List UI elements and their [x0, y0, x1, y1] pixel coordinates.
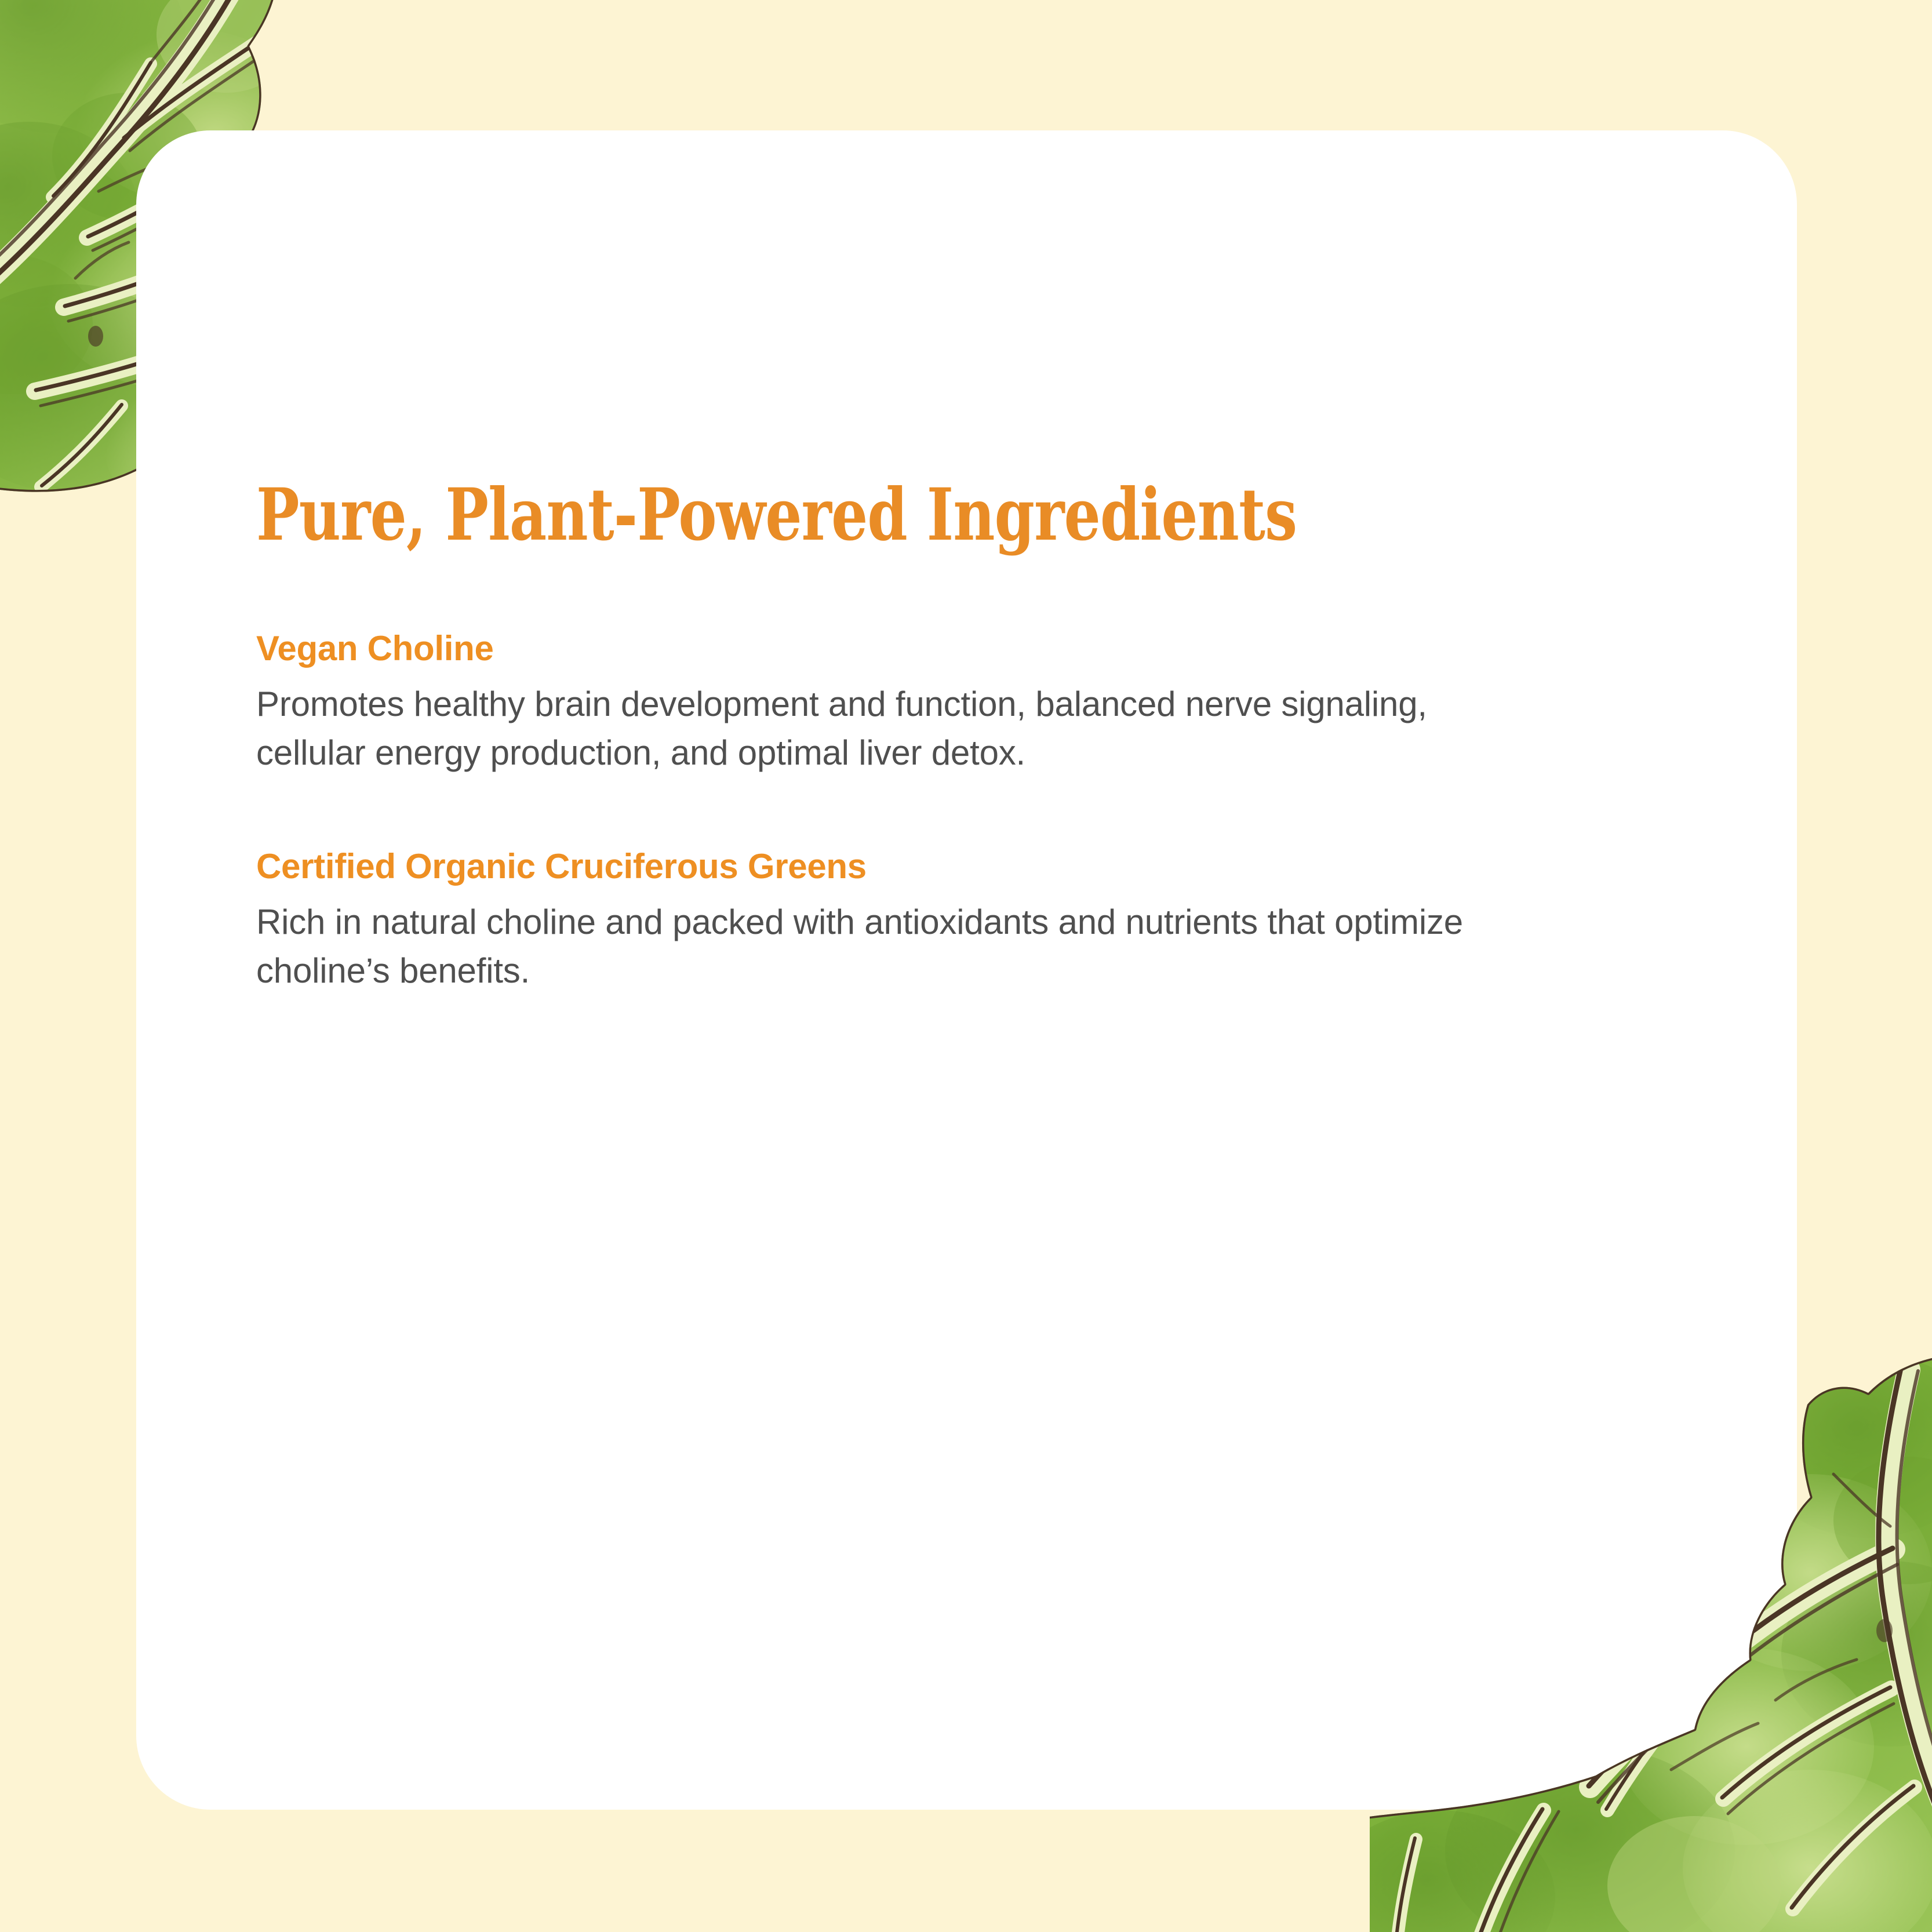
ingredient-body-cruciferous-greens: Rich in natural choline and packed with …	[256, 898, 1531, 995]
ingredient-section-vegan-choline: Vegan Choline Promotes healthy brain dev…	[256, 628, 1659, 777]
text-content: Pure, Plant-Powered Ingredients Vegan Ch…	[256, 475, 1659, 995]
page-title: Pure, Plant-Powered Ingredients	[256, 475, 1378, 556]
poster-canvas: Pure, Plant-Powered Ingredients Vegan Ch…	[0, 0, 1932, 1932]
ingredient-body-vegan-choline: Promotes healthy brain development and f…	[256, 680, 1531, 777]
ingredient-section-cruciferous-greens: Certified Organic Cruciferous Greens Ric…	[256, 846, 1659, 995]
ingredient-heading-vegan-choline: Vegan Choline	[256, 628, 1659, 670]
ingredient-heading-cruciferous-greens: Certified Organic Cruciferous Greens	[256, 846, 1659, 887]
